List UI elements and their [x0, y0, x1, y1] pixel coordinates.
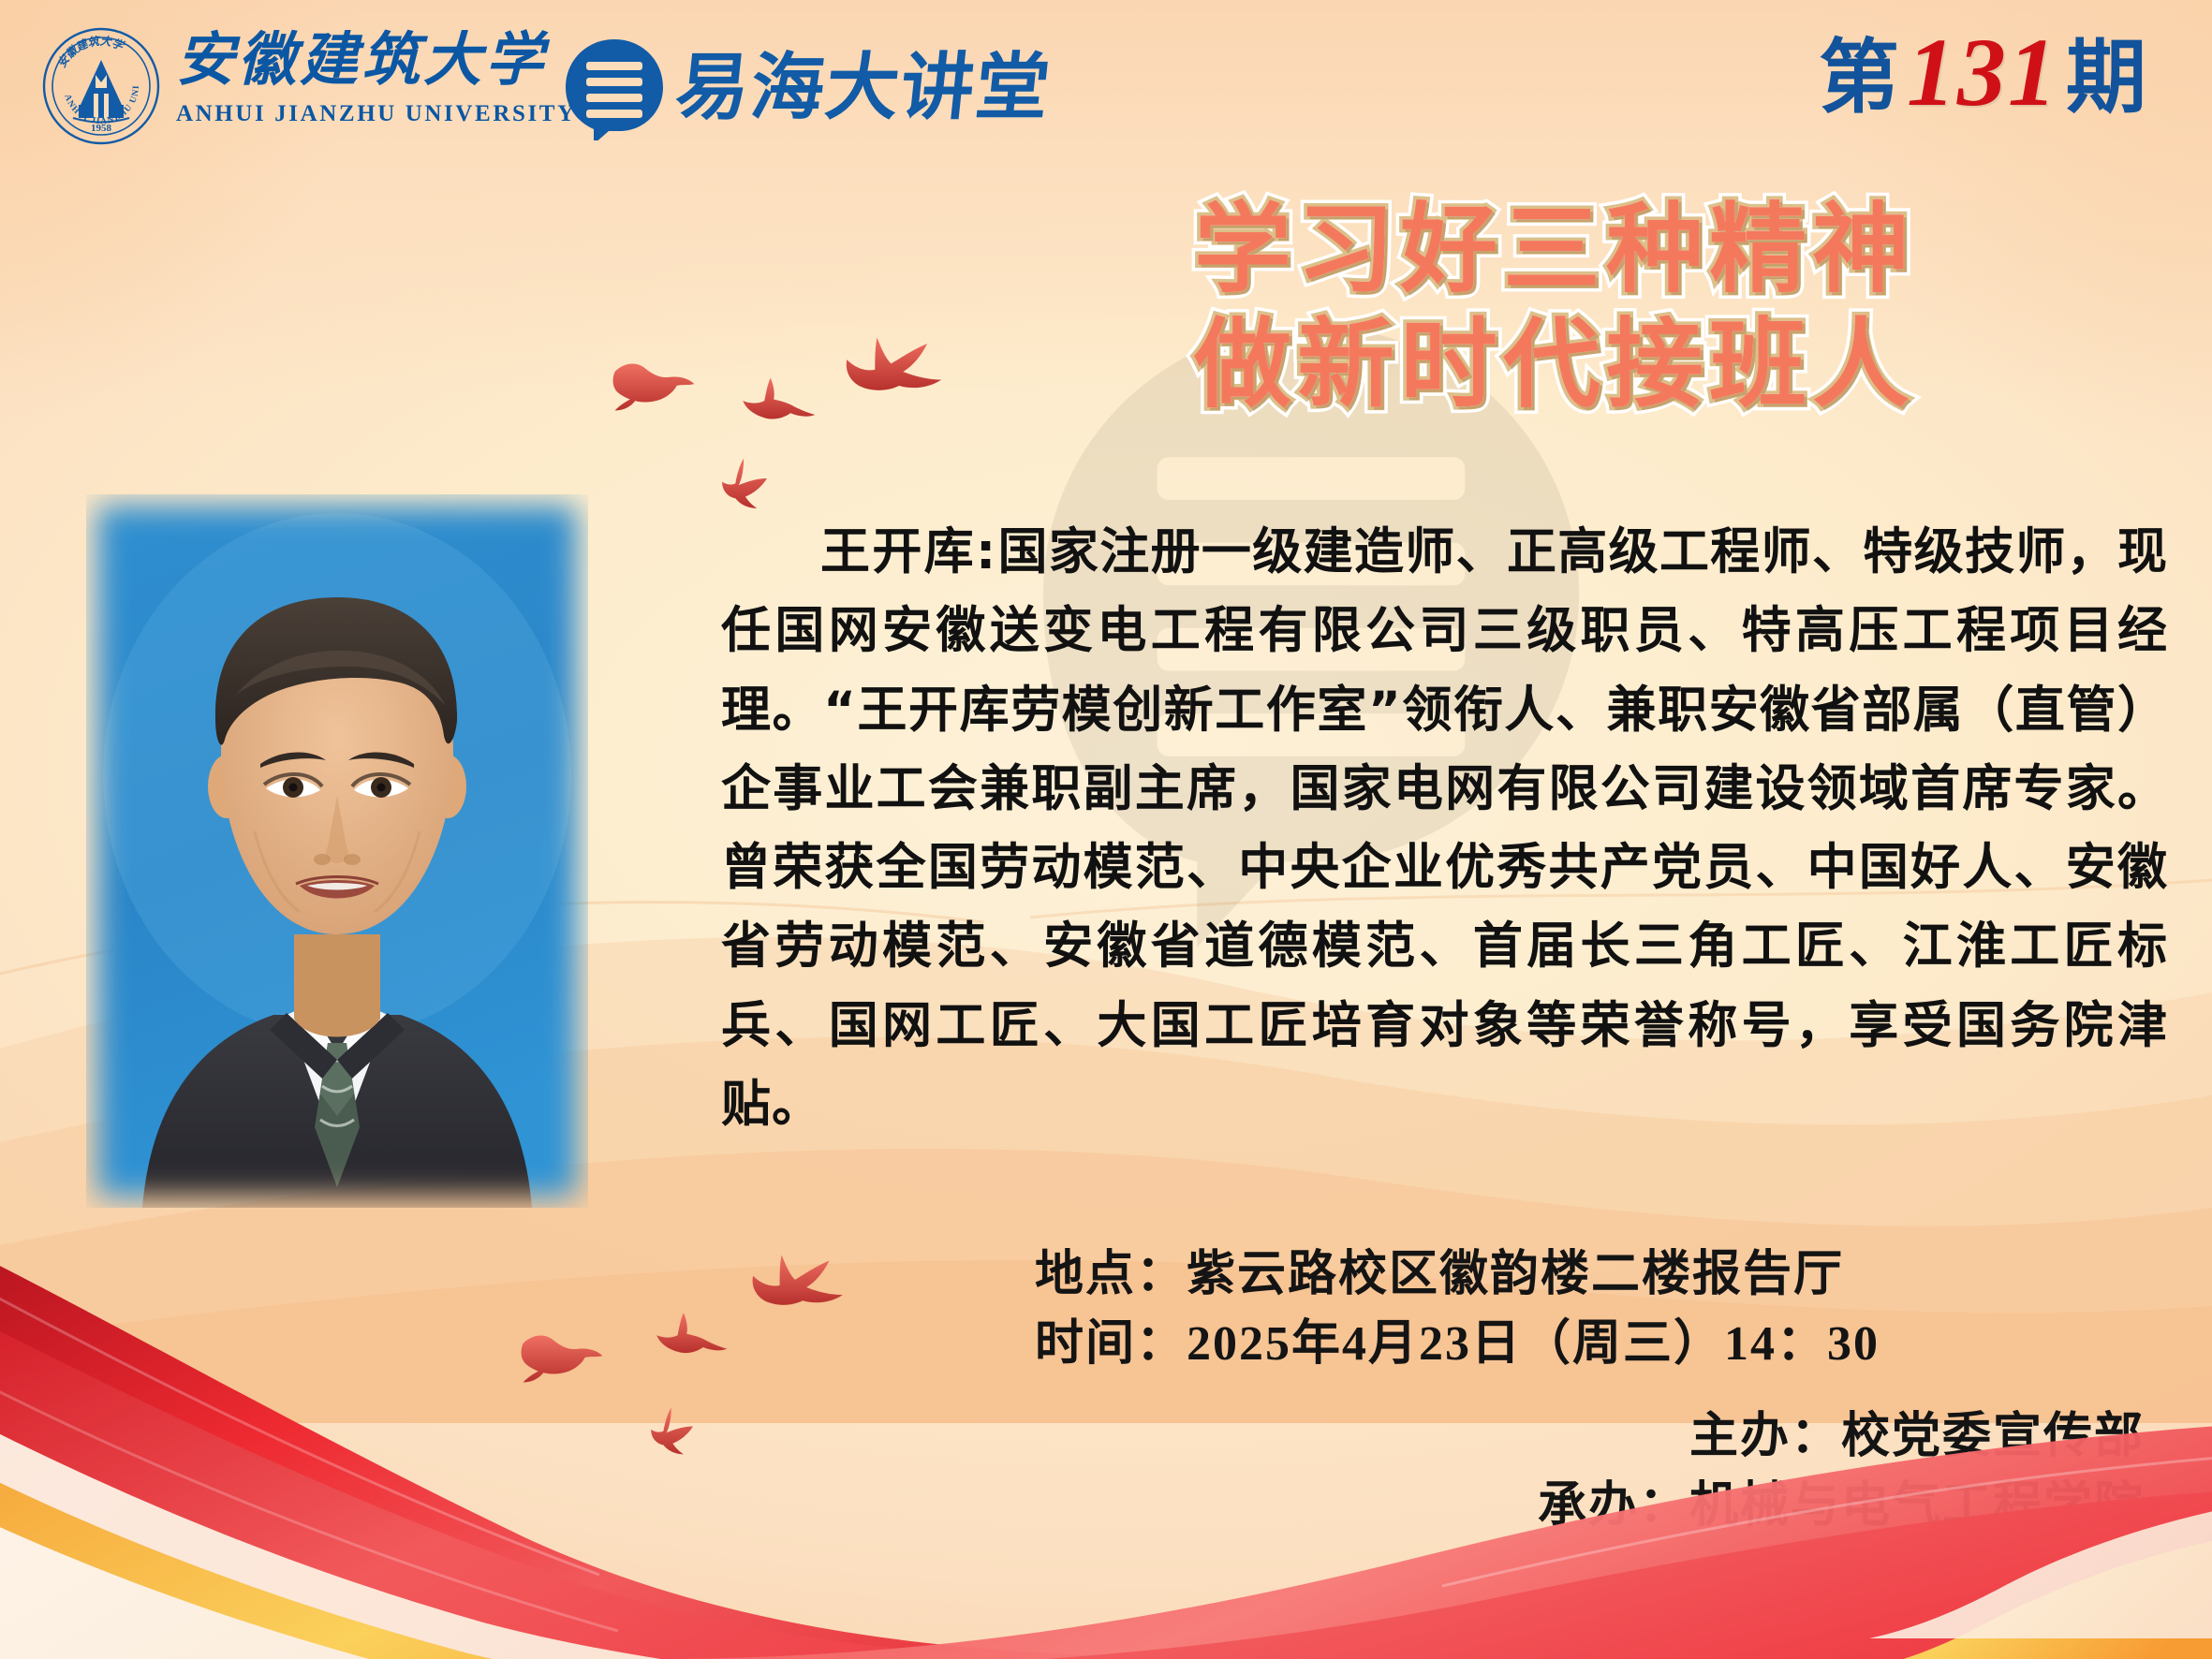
- title-line-1-fill: 学习好三种精神: [946, 192, 2163, 307]
- event-time: 时间：2025年4月23日（周三）14：30: [1035, 1310, 2159, 1379]
- university-name-cn: 安徽建筑大学: [176, 32, 551, 90]
- university-name-en: ANHUI JIANZHU UNIVERSITY: [176, 101, 551, 127]
- issue-badge: 第 131 期: [1819, 24, 2146, 122]
- dove-icon: [517, 1328, 607, 1389]
- issue-number: 131: [1907, 24, 2058, 122]
- organizer-host: 主办：校党委宣传部: [1538, 1402, 2145, 1472]
- event-details: 地点：紫云路校区徽韵楼二楼报告厅 时间：2025年4月23日（周三）14：30: [1035, 1241, 2159, 1379]
- speaker-bio-text: 国家注册一级建造师、正高级工程师、特级技师，现任国网安徽送变电工程有限公司三级职…: [721, 523, 2168, 1133]
- dove-icon: [749, 1253, 854, 1322]
- poster-header: 1958 ANHUI JIANZHU UNIVERSITY 安徽建筑大学 安徽建…: [0, 0, 2212, 169]
- title-line-1: 学习好三种精神 学习好三种精神 学习好三种精神: [946, 192, 2163, 307]
- university-seal-icon: 1958 ANHUI JIANZHU UNIVERSITY 安徽建筑大学: [41, 26, 161, 146]
- lecture-brand-name: 易海大讲堂: [671, 36, 1056, 140]
- dove-icon: [717, 457, 787, 515]
- speaker-portrait: [86, 494, 588, 1208]
- speaker-name: 王开库: [820, 523, 976, 580]
- organizer-cohost: 承办：机械与电气工程学院: [1538, 1472, 2145, 1541]
- event-venue: 地点：紫云路校区徽韵楼二楼报告厅: [1035, 1241, 2159, 1310]
- event-organizers: 主办：校党委宣传部 承办：机械与电气工程学院: [1538, 1402, 2145, 1541]
- lecture-brand-icon: [562, 36, 667, 140]
- dove-icon: [609, 356, 699, 418]
- issue-prefix: 第: [1819, 37, 1899, 118]
- poster-title: 学习好三种精神 学习好三种精神 学习好三种精神 做新时代接班人 做新时代接班人 …: [946, 192, 2163, 421]
- svg-text:安徽建筑大学: 安徽建筑大学: [55, 34, 127, 69]
- dove-icon: [843, 335, 953, 408]
- speaker-name-separator: :: [976, 523, 997, 580]
- speaker-bio: 王开库:国家注册一级建造师、正高级工程师、特级技师，现任国网安徽送变电工程有限公…: [721, 513, 2168, 1144]
- dove-icon: [646, 1406, 712, 1461]
- title-line-2-fill: 做新时代接班人: [946, 307, 2163, 422]
- dove-icon: [740, 374, 817, 429]
- title-line-2: 做新时代接班人 做新时代接班人 做新时代接班人: [946, 307, 2163, 422]
- university-name-block: 安徽建筑大学 ANHUI JIANZHU UNIVERSITY: [176, 32, 551, 127]
- dove-icon: [654, 1309, 729, 1363]
- issue-suffix: 期: [2066, 37, 2146, 118]
- lecture-poster: 1958 ANHUI JIANZHU UNIVERSITY 安徽建筑大学 安徽建…: [0, 0, 2212, 1659]
